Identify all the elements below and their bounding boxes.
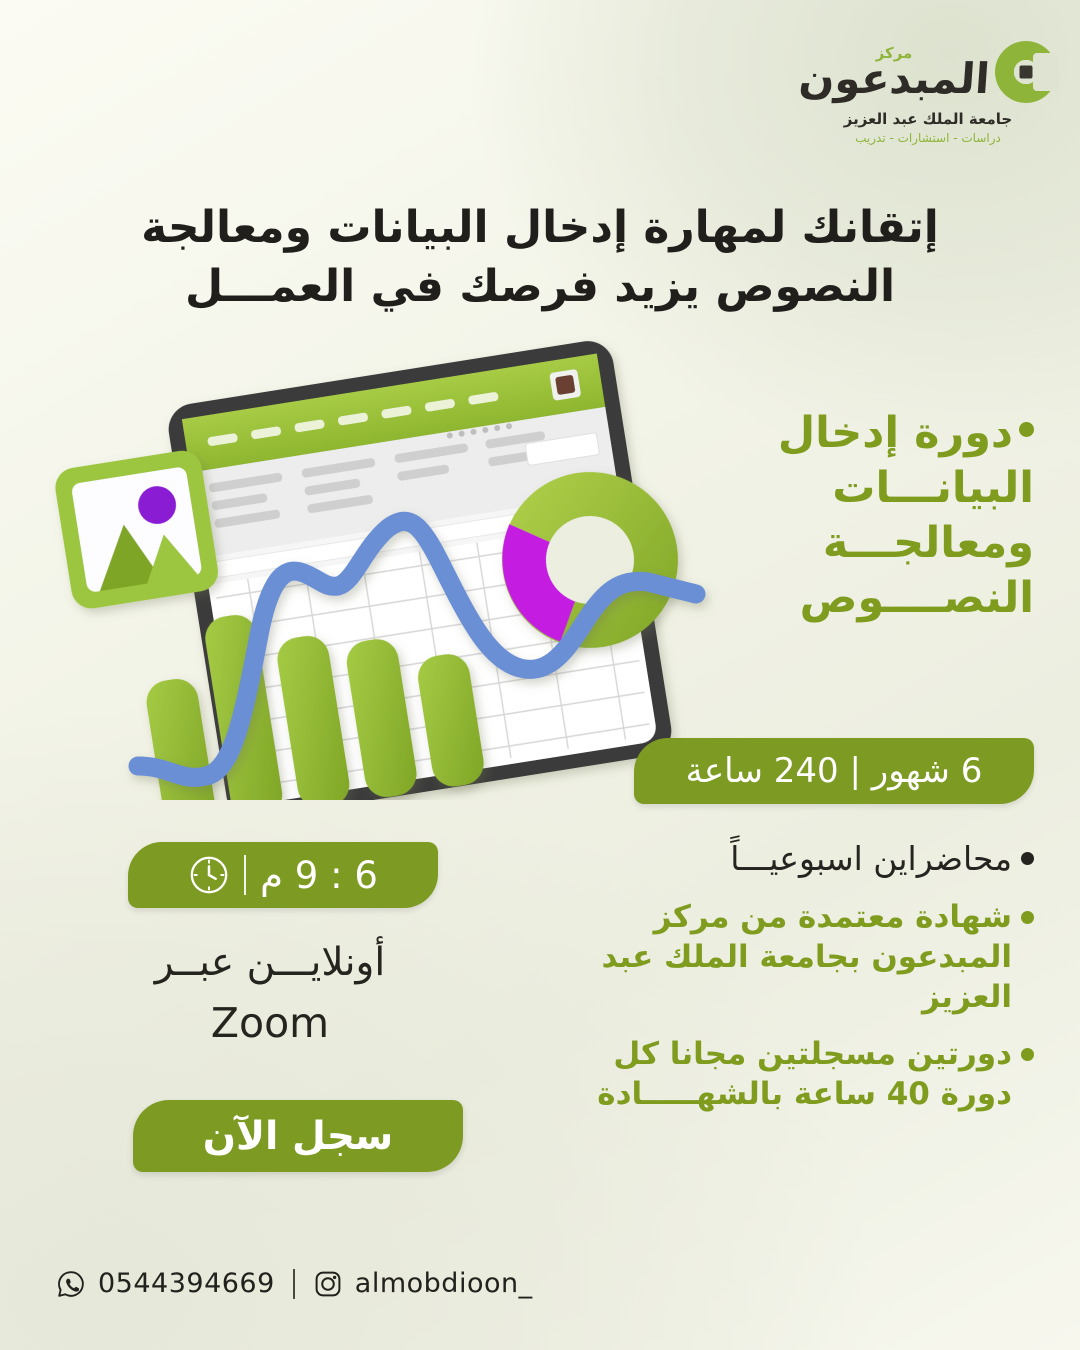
whatsapp-icon[interactable]: [56, 1269, 86, 1299]
poster-canvas: مركز المبدعون جامعة الملك عبد العزيز درا…: [0, 0, 1080, 1350]
feature-list: محاضراين اسبوعيـــاً شهادة معتمدة من مرك…: [542, 838, 1034, 1130]
list-item: دورتين مسجلتين مجانا كل دورة 40 ساعة بال…: [542, 1034, 1034, 1115]
course-title-bullet-icon: [1019, 422, 1034, 437]
list-item: محاضراين اسبوعيـــاً: [542, 838, 1034, 881]
footer-divider: [293, 1269, 295, 1299]
bullet-icon: [1021, 1048, 1034, 1061]
register-button-label: سجل الآن: [203, 1114, 394, 1159]
list-item: شهادة معتمدة من مركز المبدعون بجامعة الم…: [542, 897, 1034, 1018]
whatsapp-number: 0544394669: [98, 1268, 275, 1299]
time-badge-divider: [244, 855, 246, 895]
hours-badge: 6 شهور | 240 ساعة: [634, 738, 1034, 804]
platform-name: Zoom: [60, 993, 480, 1055]
course-title: دورة إدخال البيانـــات ومعالجـــة النصــ…: [714, 406, 1034, 626]
logo-university: جامعة الملك عبد العزيز: [818, 110, 1038, 128]
data-entry-illustration: [20, 330, 740, 800]
page-title: إتقانك لمهارة إدخال البيانات ومعالجة الن…: [60, 198, 1020, 317]
bullet-icon: [1021, 852, 1034, 865]
session-time: 6 : 9 م: [260, 854, 378, 897]
hours-badge-label: 6 شهور | 240 ساعة: [686, 751, 983, 791]
logo-tagline: دراسات - استشارات - تدريب: [818, 131, 1038, 145]
contact-footer: 0544394669 almobdioon_: [56, 1268, 533, 1299]
feature-text: دورتين مسجلتين مجانا كل دورة 40 ساعة بال…: [542, 1034, 1012, 1115]
instagram-handle: almobdioon_: [355, 1268, 533, 1299]
bullet-icon: [1021, 911, 1034, 924]
time-badge: 6 : 9 م: [128, 842, 438, 908]
logo-main-word: المبدعون: [797, 58, 991, 100]
image-placeholder-icon: [52, 448, 220, 611]
platform-prefix: أونلايـــن عبــر: [60, 934, 480, 993]
platform-info: أونلايـــن عبــر Zoom: [60, 934, 480, 1054]
logo-row: مركز المبدعون: [818, 36, 1038, 108]
clock-icon: [188, 854, 230, 896]
feature-text: محاضراين اسبوعيـــاً: [542, 838, 1012, 881]
feature-text: شهادة معتمدة من مركز المبدعون بجامعة الم…: [542, 897, 1012, 1018]
instagram-icon[interactable]: [313, 1269, 343, 1299]
brand-logo: مركز المبدعون جامعة الملك عبد العزيز درا…: [818, 36, 1038, 145]
course-title-text: دورة إدخال البيانـــات ومعالجـــة النصــ…: [778, 408, 1034, 623]
circle-ring-logo-icon: [995, 41, 1057, 103]
register-button[interactable]: سجل الآن: [133, 1100, 463, 1172]
